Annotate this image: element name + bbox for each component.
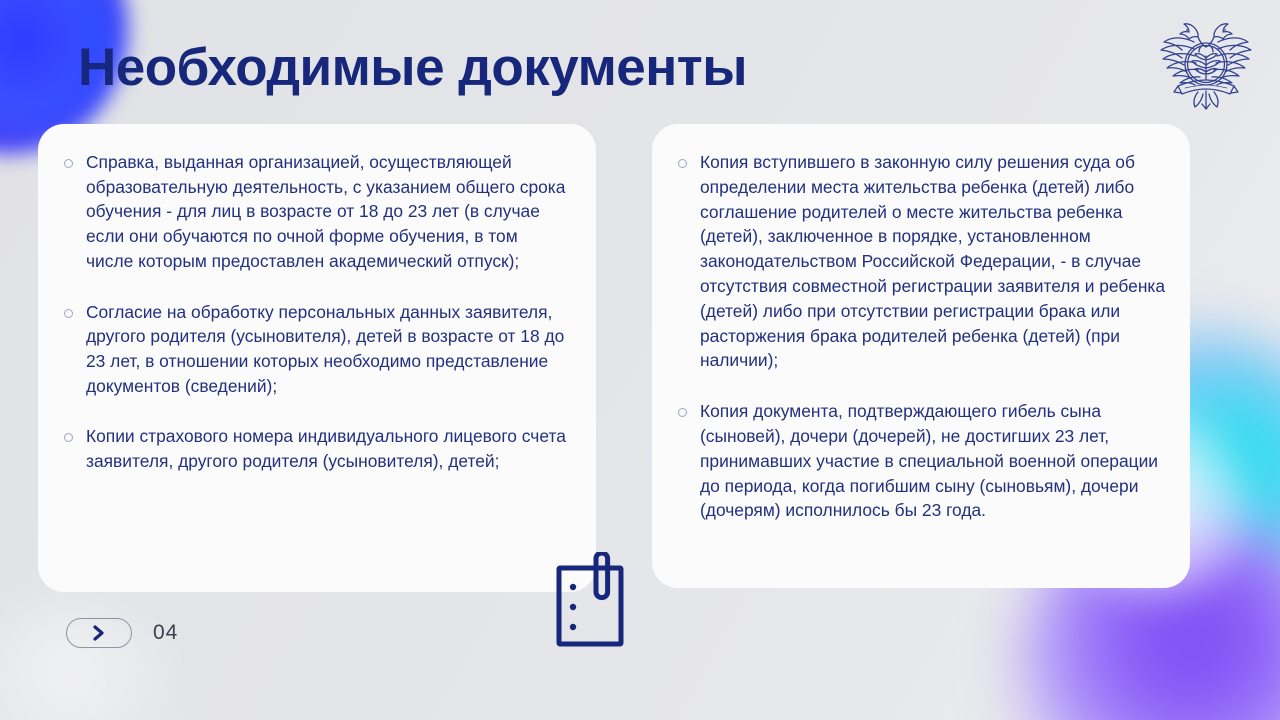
bullet-circle-icon (64, 309, 73, 318)
bullet-list-right: Копия вступившего в законную силу решени… (678, 150, 1166, 523)
documents-card-left: Справка, выданная организацией, осуществ… (38, 124, 596, 592)
clipboard-paperclip-icon (552, 552, 628, 648)
footer-navigation: 04 (66, 618, 178, 648)
page-number: 04 (153, 621, 178, 645)
bullet-text: Копия документа, подтверждающего гибель … (700, 399, 1166, 523)
bullet-text: Копии страхового номера индивидуального … (86, 424, 566, 473)
bullet-text: Согласие на обработку персональных данны… (86, 300, 566, 399)
list-item: Копия документа, подтверждающего гибель … (678, 399, 1166, 523)
double-headed-eagle-emblem-icon (1154, 12, 1258, 112)
next-slide-button[interactable] (66, 618, 132, 648)
chevron-right-icon (91, 624, 107, 642)
bullet-circle-icon (64, 433, 73, 442)
bullet-text: Справка, выданная организацией, осуществ… (86, 150, 566, 274)
list-item: Копии страхового номера индивидуального … (64, 424, 566, 473)
documents-card-right: Копия вступившего в законную силу решени… (652, 124, 1190, 588)
bullet-circle-icon (678, 408, 687, 417)
list-item: Копия вступившего в законную силу решени… (678, 150, 1166, 373)
bullet-circle-icon (678, 159, 687, 168)
list-item: Справка, выданная организацией, осуществ… (64, 150, 566, 274)
page-title: Необходимые документы (78, 40, 747, 96)
slide-canvas: Необходимые документы (0, 0, 1280, 720)
list-item: Согласие на обработку персональных данны… (64, 300, 566, 399)
bullet-text: Копия вступившего в законную силу решени… (700, 150, 1166, 373)
bullet-list-left: Справка, выданная организацией, осуществ… (64, 150, 566, 474)
decor-blob-top-left-inner (0, 0, 90, 120)
bullet-circle-icon (64, 159, 73, 168)
